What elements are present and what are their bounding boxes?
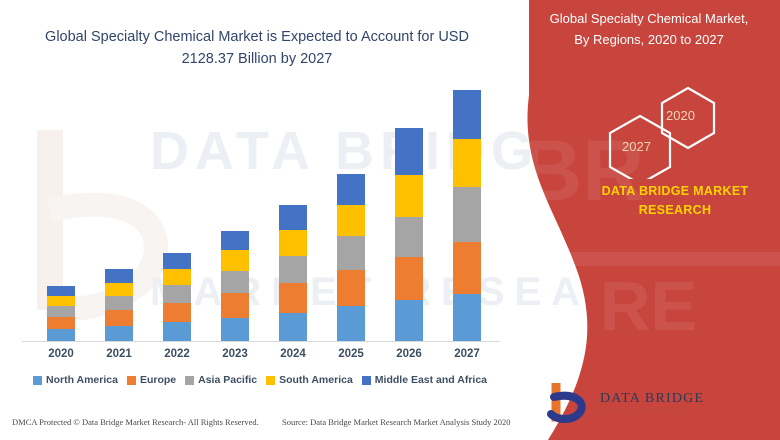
legend-label: North America [46, 374, 118, 386]
brand-line1: DATA BRIDGE MARKET [580, 182, 770, 201]
x-axis-line [22, 341, 500, 342]
x-axis-label-2020: 2020 [38, 348, 84, 360]
legend-swatch-icon [127, 376, 136, 385]
legend-swatch-icon [185, 376, 194, 385]
chart-title: Global Specialty Chemical Market is Expe… [22, 26, 492, 70]
legend-item-asia-pacific[interactable]: Asia Pacific [185, 374, 257, 386]
x-axis-label-2026: 2026 [386, 348, 432, 360]
bar-segment-2020-middle-east-and-africa [47, 286, 75, 296]
bar-segment-2020-north-america [47, 329, 75, 341]
bar-2020 [47, 286, 75, 341]
red-panel-heading-line2: By Regions, 2020 to 2027 [524, 29, 774, 50]
red-panel-shape [527, 0, 780, 440]
bar-segment-2026-south-america [395, 175, 423, 216]
legend-swatch-icon [33, 376, 42, 385]
bar-segment-2027-south-america [453, 139, 481, 187]
hexagon-badges: 2020 2027 [592, 84, 732, 179]
bar-segment-2021-asia-pacific [105, 296, 133, 310]
chart-legend: North AmericaEuropeAsia PacificSouth Ame… [0, 374, 520, 386]
bar-2027 [453, 90, 481, 341]
logo-main-text: DATA BRIDGE [600, 392, 704, 407]
legend-swatch-icon [266, 376, 275, 385]
bar-2025 [337, 174, 365, 341]
x-axis-label-2024: 2024 [270, 348, 316, 360]
footer-source-text: Source: Data Bridge Market Research Mark… [282, 417, 511, 427]
hex-badge-2020-label: 2020 [666, 108, 695, 123]
bar-segment-2021-europe [105, 310, 133, 325]
bar-segment-2024-asia-pacific [279, 256, 307, 283]
bar-segment-2024-south-america [279, 230, 307, 256]
legend-item-europe[interactable]: Europe [127, 374, 176, 386]
bar-segment-2025-south-america [337, 205, 365, 237]
bar-segment-2023-north-america [221, 318, 249, 341]
bar-segment-2023-asia-pacific [221, 271, 249, 293]
x-axis-label-2022: 2022 [154, 348, 200, 360]
bar-segment-2021-middle-east-and-africa [105, 269, 133, 283]
bar-segment-2020-asia-pacific [47, 306, 75, 317]
bar-segment-2023-south-america [221, 250, 249, 271]
bar-segment-2027-middle-east-and-africa [453, 90, 481, 139]
legend-label: Middle East and Africa [375, 374, 487, 386]
brand-name: DATA BRIDGE MARKET RESEARCH [580, 182, 770, 220]
x-axis-label-2025: 2025 [328, 348, 374, 360]
legend-item-south-america[interactable]: South America [266, 374, 353, 386]
legend-label: South America [279, 374, 353, 386]
bar-segment-2026-north-america [395, 300, 423, 341]
red-panel-heading-line1: Global Specialty Chemical Market, [524, 8, 774, 29]
x-axis-label-2023: 2023 [212, 348, 258, 360]
bar-segment-2022-north-america [163, 322, 191, 341]
bar-segment-2020-south-america [47, 296, 75, 306]
legend-swatch-icon [362, 376, 371, 385]
bar-segment-2022-middle-east-and-africa [163, 253, 191, 269]
bar-segment-2021-south-america [105, 283, 133, 296]
hexagon-2020-icon [662, 88, 714, 148]
bar-2022 [163, 253, 191, 341]
infographic-root: DATA BRIDGE MARKET RESEARCH Global Speci… [0, 0, 780, 440]
bar-segment-2024-europe [279, 283, 307, 312]
footer-dmca-text: DMCA Protected © Data Bridge Market Rese… [12, 417, 259, 427]
bar-segment-2025-north-america [337, 306, 365, 341]
red-panel-heading: Global Specialty Chemical Market, By Reg… [524, 8, 774, 50]
bar-segment-2023-europe [221, 293, 249, 318]
hex-badge-2027-label: 2027 [622, 139, 651, 154]
bar-segment-2027-europe [453, 242, 481, 294]
bar-segment-2026-europe [395, 257, 423, 300]
bar-2024 [279, 205, 307, 341]
bar-2026 [395, 128, 423, 341]
legend-item-middle-east-and-africa[interactable]: Middle East and Africa [362, 374, 487, 386]
bar-segment-2027-north-america [453, 294, 481, 341]
data-bridge-logo-icon [546, 383, 592, 423]
bar-segment-2027-asia-pacific [453, 187, 481, 242]
chart-panel: Global Specialty Chemical Market is Expe… [0, 0, 545, 440]
bar-segment-2025-middle-east-and-africa [337, 174, 365, 205]
logo-sub-text: MARKET RESEARCH [600, 409, 704, 414]
bar-segment-2026-asia-pacific [395, 217, 423, 257]
bar-segment-2021-north-america [105, 326, 133, 341]
bar-segment-2022-europe [163, 303, 191, 323]
bar-segment-2022-asia-pacific [163, 285, 191, 302]
company-logo: DATA BRIDGE MARKET RESEARCH [546, 381, 746, 425]
bar-segment-2024-middle-east-and-africa [279, 205, 307, 230]
bar-chart-plot [0, 90, 520, 342]
bar-segment-2024-north-america [279, 313, 307, 341]
x-axis-label-2021: 2021 [96, 348, 142, 360]
legend-label: Asia Pacific [198, 374, 257, 386]
legend-label: Europe [140, 374, 176, 386]
bar-segment-2023-middle-east-and-africa [221, 231, 249, 251]
x-axis-label-2027: 2027 [444, 348, 490, 360]
brand-line2: RESEARCH [580, 201, 770, 220]
bar-segment-2025-europe [337, 270, 365, 306]
bar-segment-2022-south-america [163, 269, 191, 285]
bar-2023 [221, 231, 249, 341]
legend-item-north-america[interactable]: North America [33, 374, 118, 386]
hexagon-2027-icon [610, 116, 670, 179]
bar-segment-2026-middle-east-and-africa [395, 128, 423, 175]
bar-segment-2020-europe [47, 317, 75, 329]
bar-2021 [105, 269, 133, 341]
red-panel-band [548, 252, 780, 266]
x-axis-labels: 20202021202220232024202520262027 [0, 348, 520, 366]
bar-segment-2025-asia-pacific [337, 236, 365, 270]
